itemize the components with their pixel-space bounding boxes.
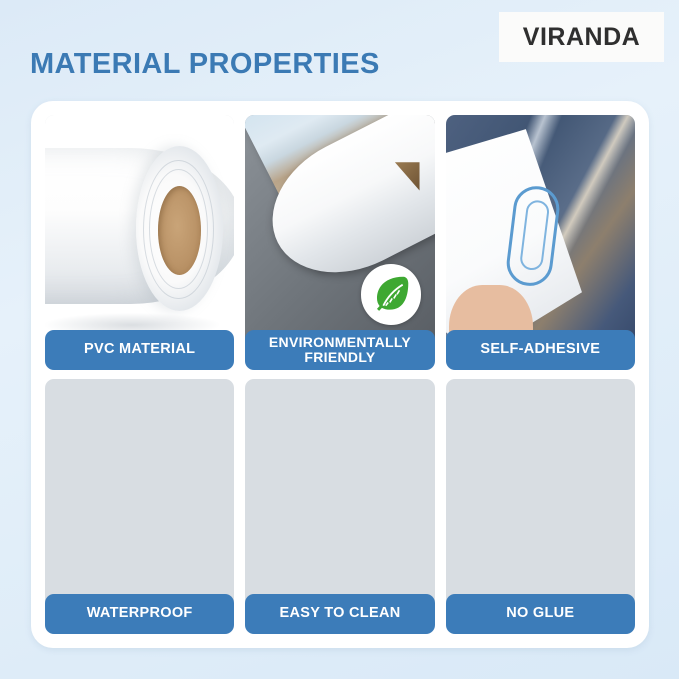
features-panel: PVC MATERIAL (31, 101, 649, 648)
wipe-cloth-image (245, 379, 434, 615)
features-grid: PVC MATERIAL (45, 115, 635, 634)
feature-card-no-glue: NO GLUE (446, 379, 635, 634)
page-title: MATERIAL PROPERTIES (30, 48, 380, 81)
feature-card-self-adhesive: SELF-ADHESIVE (446, 115, 635, 370)
feature-label-environmentally-friendly: ENVIRONMENTALLY FRIENDLY (245, 330, 434, 370)
leaf-icon (361, 264, 422, 325)
brand-logo-box: VIRANDA (499, 12, 664, 62)
infographic-root: VIRANDA MATERIAL PROPERTIES PVC MATERIAL (0, 0, 679, 679)
water-droplets-image (45, 379, 234, 615)
white-door-image (446, 379, 635, 615)
feature-card-easy-to-clean: EASY TO CLEAN (245, 379, 434, 634)
pvc-roll-image (45, 115, 234, 351)
feature-card-waterproof: WATERPROOF (45, 379, 234, 634)
eco-leaf-badge-image (245, 115, 434, 351)
feature-label-easy-to-clean: EASY TO CLEAN (245, 594, 434, 634)
feature-card-pvc-material: PVC MATERIAL (45, 115, 234, 370)
peel-backing-image (446, 115, 635, 351)
feature-label-no-glue: NO GLUE (446, 594, 635, 634)
feature-card-environmentally-friendly: ENVIRONMENTALLY FRIENDLY (245, 115, 434, 370)
feature-label-self-adhesive: SELF-ADHESIVE (446, 330, 635, 370)
feature-label-waterproof: WATERPROOF (45, 594, 234, 634)
brand-name: VIRANDA (523, 23, 640, 52)
feature-label-pvc-material: PVC MATERIAL (45, 330, 234, 370)
